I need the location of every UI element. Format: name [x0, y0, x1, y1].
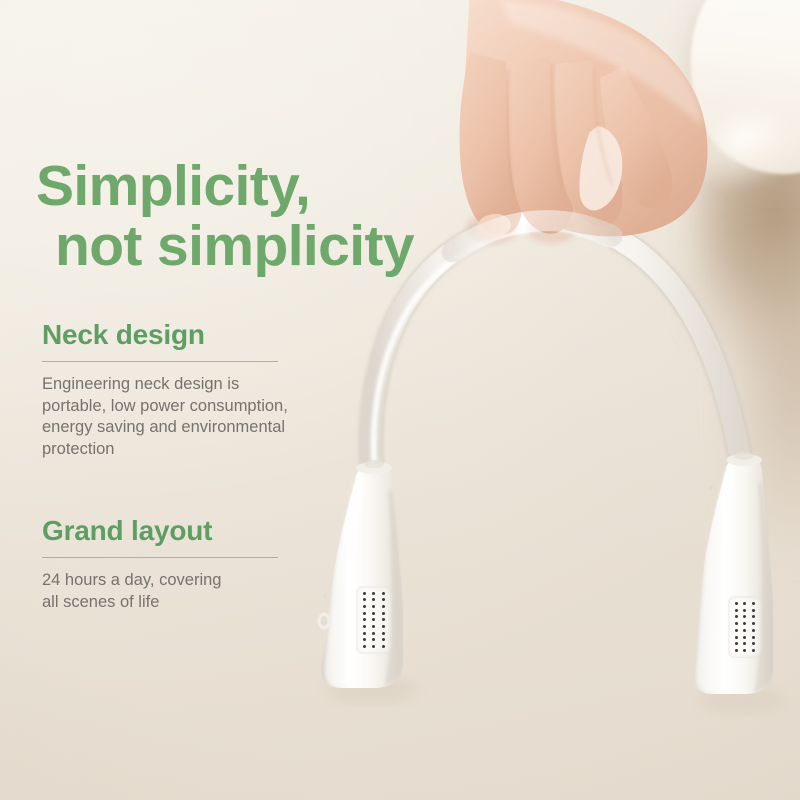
section-divider [42, 361, 278, 362]
headline-line-1: Simplicity, [36, 154, 310, 218]
right-device-grille [728, 596, 762, 658]
section-body: 24 hours a day, covering all scenes of l… [42, 570, 372, 613]
section-body: Engineering neck design is portable, low… [42, 374, 372, 460]
page-headline: Simplicity, not simplicity [36, 96, 466, 336]
hand-holding-product [459, 0, 707, 244]
section-title: Grand layout [42, 514, 372, 548]
section-title: Neck design [42, 318, 372, 352]
feature-section-grand-layout: Grand layout 24 hours a day, covering al… [42, 514, 372, 613]
headline-line-2: not simplicity [36, 216, 466, 276]
section-divider [42, 557, 278, 558]
feature-section-neck-design: Neck design Engineering neck design is p… [42, 318, 372, 460]
marketing-banner: Simplicity, not simplicity Neck design E… [0, 0, 800, 800]
right-led-indicator-icon [709, 486, 713, 490]
left-device-collar-inner [364, 460, 384, 468]
right-device-collar-inner [734, 452, 754, 460]
power-button-inner [321, 616, 328, 626]
